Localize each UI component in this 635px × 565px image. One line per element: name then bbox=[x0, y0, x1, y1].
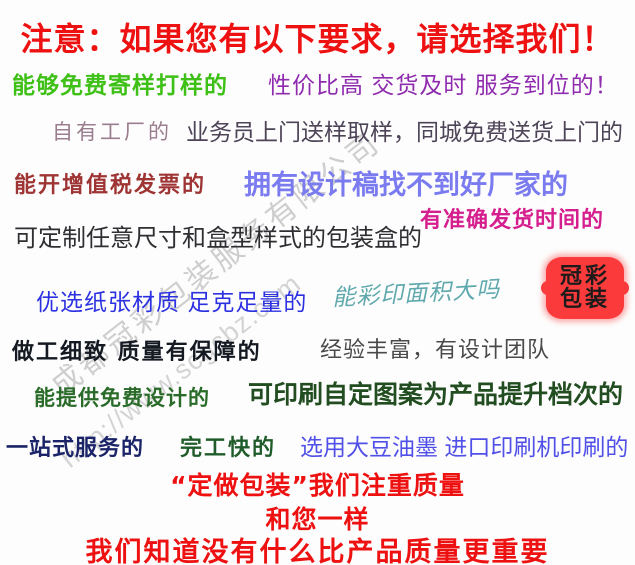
feature-door-to-door-sampling: 业务员上门送样取样，同城免费送货上门的 bbox=[186, 113, 623, 147]
feature-free-sample: 能够免费寄样打样的 bbox=[12, 66, 228, 100]
feature-custom-size-and-box-type: 可定制任意尺寸和盒型样式的包装盒的 bbox=[14, 218, 422, 253]
feature-one-stop-service: 一站式服务的 bbox=[6, 430, 144, 462]
feature-quality-paper-full-weight: 优选纸张材质 足克足量的 bbox=[36, 283, 307, 317]
feature-soy-ink-imported-press: 选用大豆油墨 进口印刷机印刷的 bbox=[300, 428, 628, 462]
brand-stamp-logo: 冠彩 包装 bbox=[546, 257, 624, 319]
brand-stamp-line-2: 包装 bbox=[560, 288, 610, 311]
promo-poster: 成都冠彩包装服务有限公司 http://www.scgcbz.com 能彩印面积… bbox=[0, 0, 635, 565]
feature-has-design-needs-factory: 拥有设计稿找不到好厂家的 bbox=[244, 163, 568, 202]
feature-accurate-shipping-time: 有准确发货时间的 bbox=[420, 202, 604, 234]
poster-content: 注意：如果您有以下要求，请选择我们！ 能够免费寄样打样的 性价比高 交货及时 服… bbox=[0, 0, 635, 565]
feature-fast-completion: 完工快的 bbox=[180, 430, 276, 462]
feature-fine-workmanship-quality: 做工细致 质量有保障的 bbox=[12, 334, 262, 366]
feature-experienced-design-team: 经验丰富，有设计团队 bbox=[320, 332, 550, 364]
brand-stamp-line-1: 冠彩 bbox=[560, 265, 610, 288]
page-title: 注意：如果您有以下要求，请选择我们！ bbox=[0, 14, 635, 60]
footer-line-1: “定做包装”我们注重质量 bbox=[0, 466, 635, 502]
feature-own-factory: 自有工厂的 bbox=[52, 116, 172, 146]
feature-custom-printing-upgrade: 可印刷自定图案为产品提升档次的 bbox=[248, 375, 623, 411]
feature-value-delivery-service: 性价比高 交货及时 服务到位的！ bbox=[268, 66, 619, 100]
footer-line-3: 我们知道没有什么比产品质量更重要 bbox=[0, 530, 635, 565]
feature-vat-invoice: 能开增值税发票的 bbox=[14, 167, 206, 199]
feature-free-design: 能提供免费设计的 bbox=[34, 382, 210, 412]
